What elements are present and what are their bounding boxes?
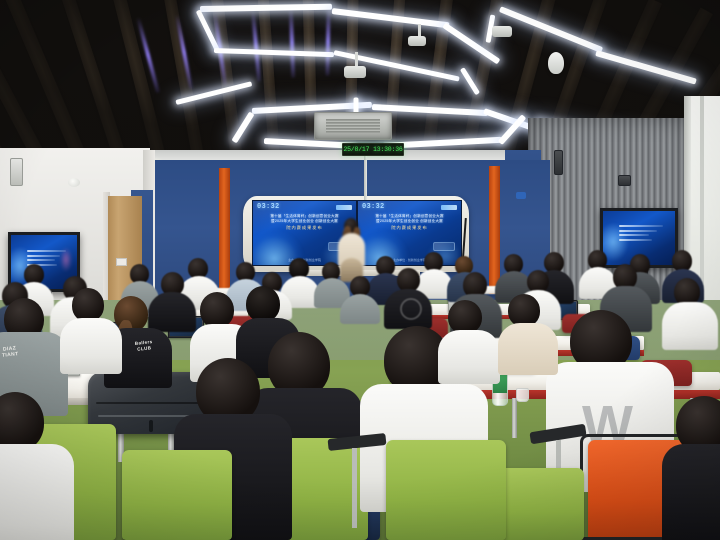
paper-cup[interactable] (516, 388, 529, 402)
ceiling-projector (492, 26, 512, 37)
shirt-circle-graphic (400, 298, 422, 320)
wall-indicator-light (516, 192, 526, 199)
ceiling-projector (344, 66, 366, 78)
wall-speaker-left (10, 158, 23, 186)
ceiling-projector (408, 36, 426, 46)
wall-speaker-right (554, 150, 563, 175)
photo-scene: 03:32 第十届「生活体育杯」创新创意创业大赛 暨2025年大学生创业创业 创… (0, 0, 720, 540)
chair[interactable] (122, 450, 232, 540)
ticker-drop-rod (364, 152, 367, 200)
chair-post (352, 448, 357, 528)
backpack-zipper-pull (149, 420, 153, 432)
table-leg (512, 398, 517, 438)
smoke-detector (68, 178, 80, 187)
wall-speaker-right-lower (618, 175, 631, 186)
power-outlet[interactable] (116, 258, 127, 266)
chair[interactable] (386, 440, 506, 540)
ceiling-camera-dome (548, 52, 564, 74)
presentation-screen-right[interactable]: 03:32 第十届「生活体育杯」创新创意创业大赛 暨2025年大学生创业创业 创… (357, 200, 462, 266)
accent-strip-right (489, 166, 500, 294)
led-ticker-display: 25/8/17 13:30:36 (342, 143, 404, 156)
cassette-air-conditioner (314, 112, 392, 140)
